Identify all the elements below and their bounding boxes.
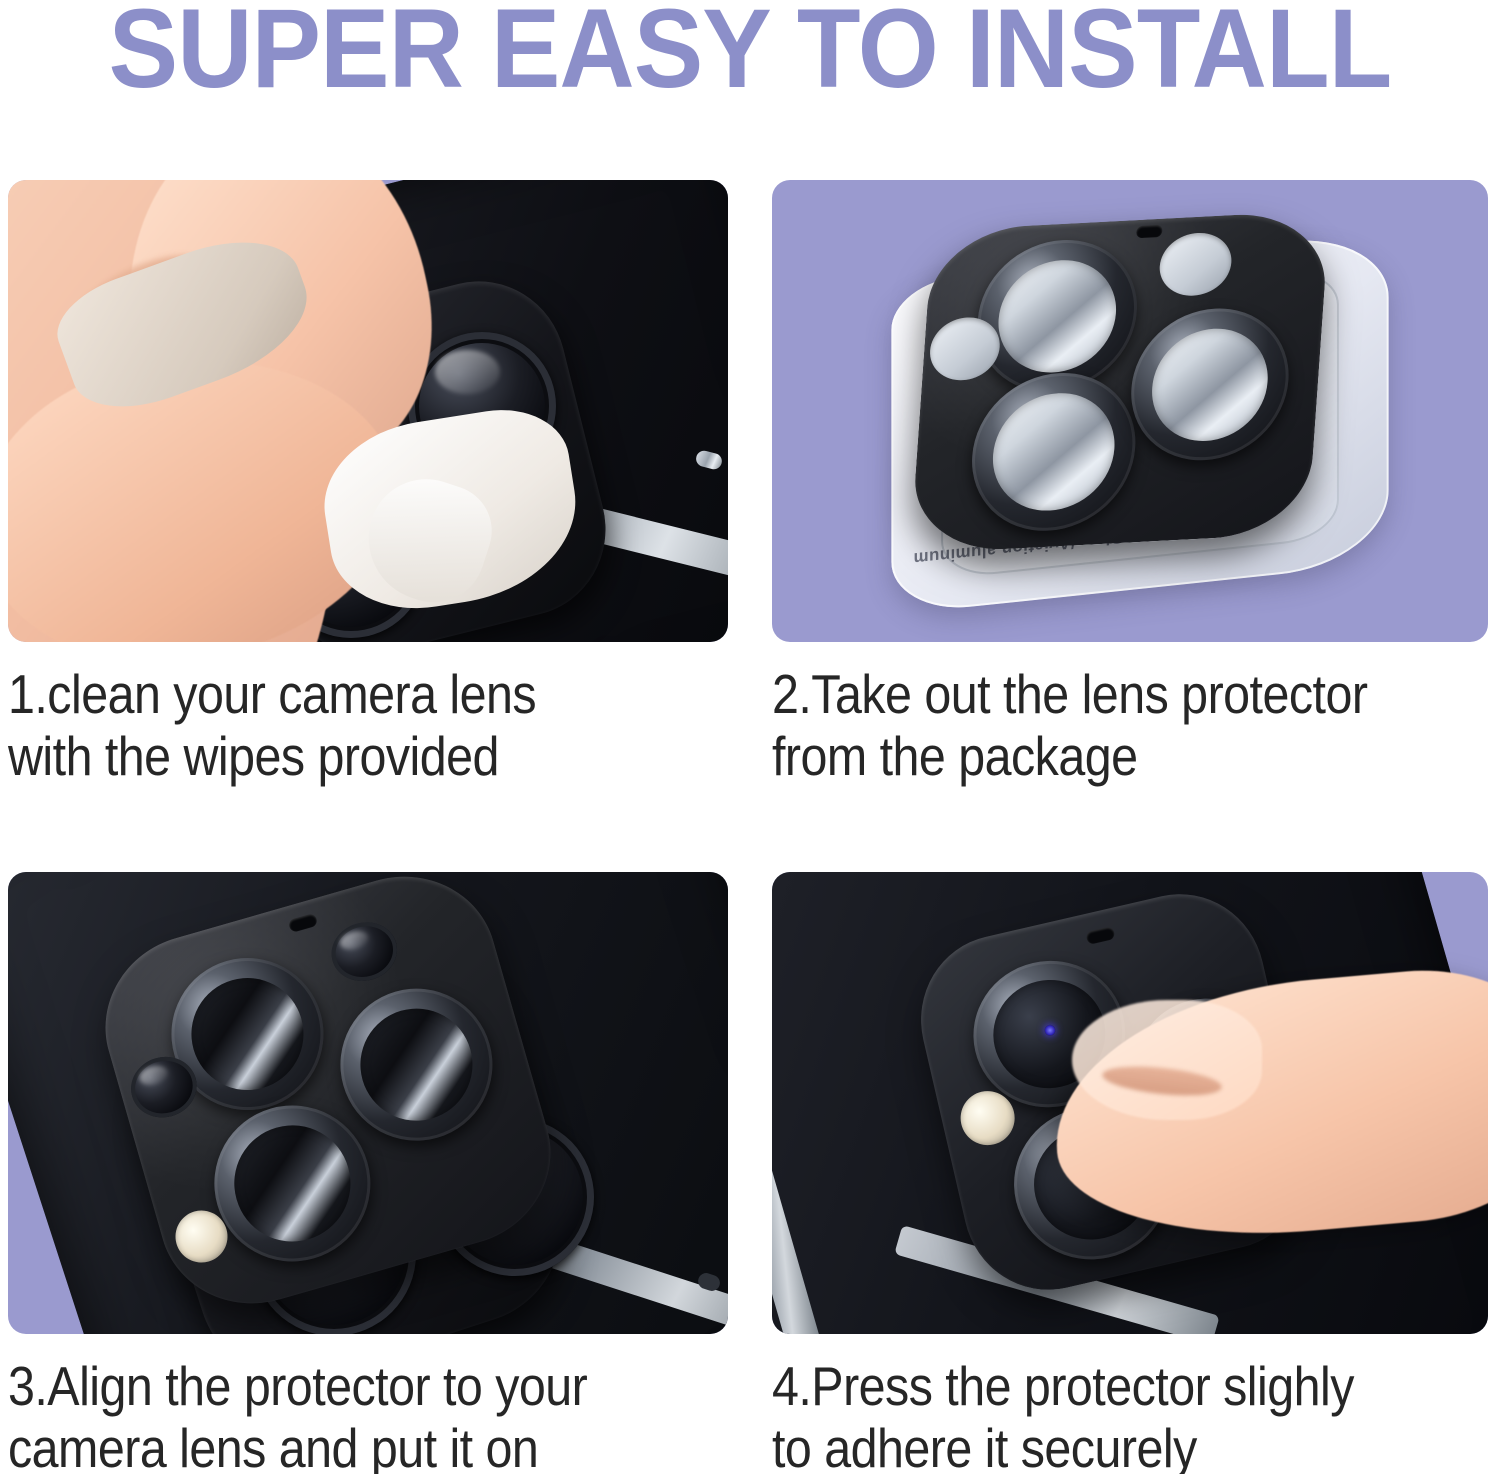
ring-glass bbox=[178, 964, 317, 1103]
step-image-1 bbox=[8, 180, 728, 642]
caption-line-2: to adhere it securely bbox=[772, 1418, 1496, 1474]
protector-ring-bottom-left bbox=[967, 369, 1141, 535]
step-card-4: 4.Press the protector slighly to adhere … bbox=[772, 872, 1500, 1474]
step-caption-3: 3.Align the protector to your camera len… bbox=[8, 1356, 732, 1474]
flash-window bbox=[325, 915, 404, 989]
steps-grid: 1.clean your camera lens with the wipes … bbox=[0, 180, 1500, 1474]
step-caption-2: 2.Take out the lens protector from the p… bbox=[772, 664, 1496, 787]
ring-glass bbox=[347, 995, 486, 1134]
lidar-cutout bbox=[928, 316, 1002, 382]
microphone-cutout bbox=[288, 913, 318, 933]
lens-protector-plate bbox=[910, 210, 1330, 554]
caption-line-2: camera lens and put it on bbox=[8, 1418, 732, 1474]
protector-ring-right bbox=[1126, 304, 1294, 464]
microphone-cutout bbox=[1136, 225, 1163, 238]
step-caption-4: 4.Press the protector slighly to adhere … bbox=[772, 1356, 1496, 1474]
caption-line-1: 4.Press the protector slighly bbox=[772, 1356, 1496, 1418]
infographic-page: SUPER EASY TO INSTALL bbox=[0, 0, 1500, 1474]
microphone-cutout bbox=[1085, 926, 1115, 945]
ring-glass bbox=[1148, 325, 1272, 443]
step-card-3: 3.Align the protector to your camera len… bbox=[8, 872, 736, 1474]
step-caption-1: 1.clean your camera lens with the wipes … bbox=[8, 664, 732, 787]
scene-aligning-protector bbox=[8, 872, 728, 1334]
ring-glass bbox=[995, 257, 1121, 375]
step-image-2: 9H Glass/Aviation aluminum bbox=[772, 180, 1488, 642]
scene-hand-wiping-lens bbox=[8, 180, 728, 642]
protector-ring-top-left bbox=[973, 236, 1143, 396]
caption-line-2: from the package bbox=[772, 726, 1496, 788]
step-card-1: 1.clean your camera lens with the wipes … bbox=[8, 180, 736, 787]
caption-line-1: 3.Align the protector to your bbox=[8, 1356, 732, 1418]
step-card-2: 9H Glass/Aviation aluminum bbox=[772, 180, 1500, 787]
finger-tip-highlight bbox=[1072, 1000, 1262, 1120]
ring-glass bbox=[221, 1112, 364, 1255]
page-title: SUPER EASY TO INSTALL bbox=[53, 0, 1448, 104]
caption-line-2: with the wipes provided bbox=[8, 726, 732, 788]
flash-cutout bbox=[1158, 231, 1234, 297]
scene-pressing-protector bbox=[772, 872, 1488, 1334]
ring-glass bbox=[989, 390, 1118, 513]
step-image-4 bbox=[772, 872, 1488, 1334]
step-image-3 bbox=[8, 872, 728, 1334]
scene-protector-in-package: 9H Glass/Aviation aluminum bbox=[772, 180, 1488, 642]
caption-line-1: 1.clean your camera lens bbox=[8, 664, 732, 726]
caption-line-1: 2.Take out the lens protector bbox=[772, 664, 1496, 726]
